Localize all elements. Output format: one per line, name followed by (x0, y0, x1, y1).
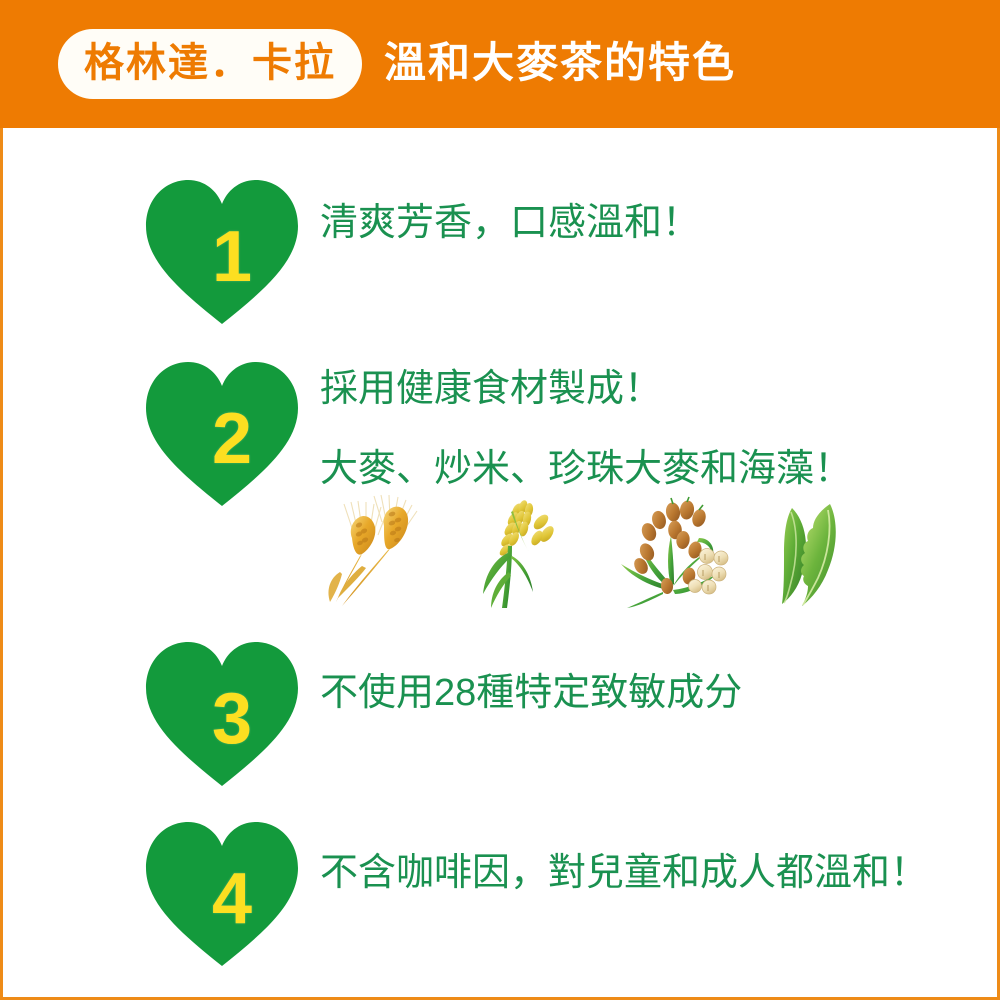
barley-ears-icon (318, 494, 438, 612)
heart-badge-4: 4 (142, 818, 302, 968)
feature-item-2: 2 採用健康食材製成！ 大麥、炒米、珍珠大麥和海藻！ (142, 358, 852, 508)
promo-page: 格林達．卡拉 溫和大麥茶的特色 1 清爽芳香，口感溫和！ 2 採用健康食材製成！… (0, 0, 1000, 1000)
feature-text-block-4: 不含咖啡因，對兒童和成人都溫和！ (320, 818, 928, 892)
pearl-barley-plant-icon (611, 494, 731, 612)
heart-number-2: 2 (142, 358, 302, 508)
ingredient-icon-strip (318, 492, 878, 612)
feature-line-1-1: 清爽芳香，口感溫和！ (320, 204, 700, 242)
feature-text-block-3: 不使用28種特定致敏成分 (320, 638, 742, 712)
brand-pill: 格林達．卡拉 (58, 29, 362, 99)
feature-item-3: 3 不使用28種特定致敏成分 (142, 638, 742, 788)
heart-badge-1: 1 (142, 176, 302, 326)
feature-item-1: 1 清爽芳香，口感溫和！ (142, 176, 700, 326)
roasted-rice-plant-icon (465, 494, 585, 612)
heart-number-1: 1 (142, 176, 302, 326)
feature-line-2-2: 大麥、炒米、珍珠大麥和海藻！ (320, 450, 852, 488)
feature-text-block-1: 清爽芳香，口感溫和！ (320, 176, 700, 242)
heart-number-3: 3 (142, 638, 302, 788)
feature-text-block-2: 採用健康食材製成！ 大麥、炒米、珍珠大麥和海藻！ (320, 358, 852, 488)
heart-number-4: 4 (142, 818, 302, 968)
heart-badge-2: 2 (142, 358, 302, 508)
page-title: 溫和大麥茶的特色 (384, 42, 736, 84)
heart-badge-3: 3 (142, 638, 302, 788)
feature-item-4: 4 不含咖啡因，對兒童和成人都溫和！ (142, 818, 928, 968)
header-banner: 格林達．卡拉 溫和大麥茶的特色 (0, 0, 1000, 128)
feature-line-4-1: 不含咖啡因，對兒童和成人都溫和！ (320, 854, 928, 892)
seaweed-leaves-icon (758, 494, 878, 612)
brand-name-label: 格林達．卡拉 (84, 43, 336, 83)
feature-line-2-1: 採用健康食材製成！ (320, 370, 852, 408)
feature-line-3-1: 不使用28種特定致敏成分 (320, 674, 742, 712)
